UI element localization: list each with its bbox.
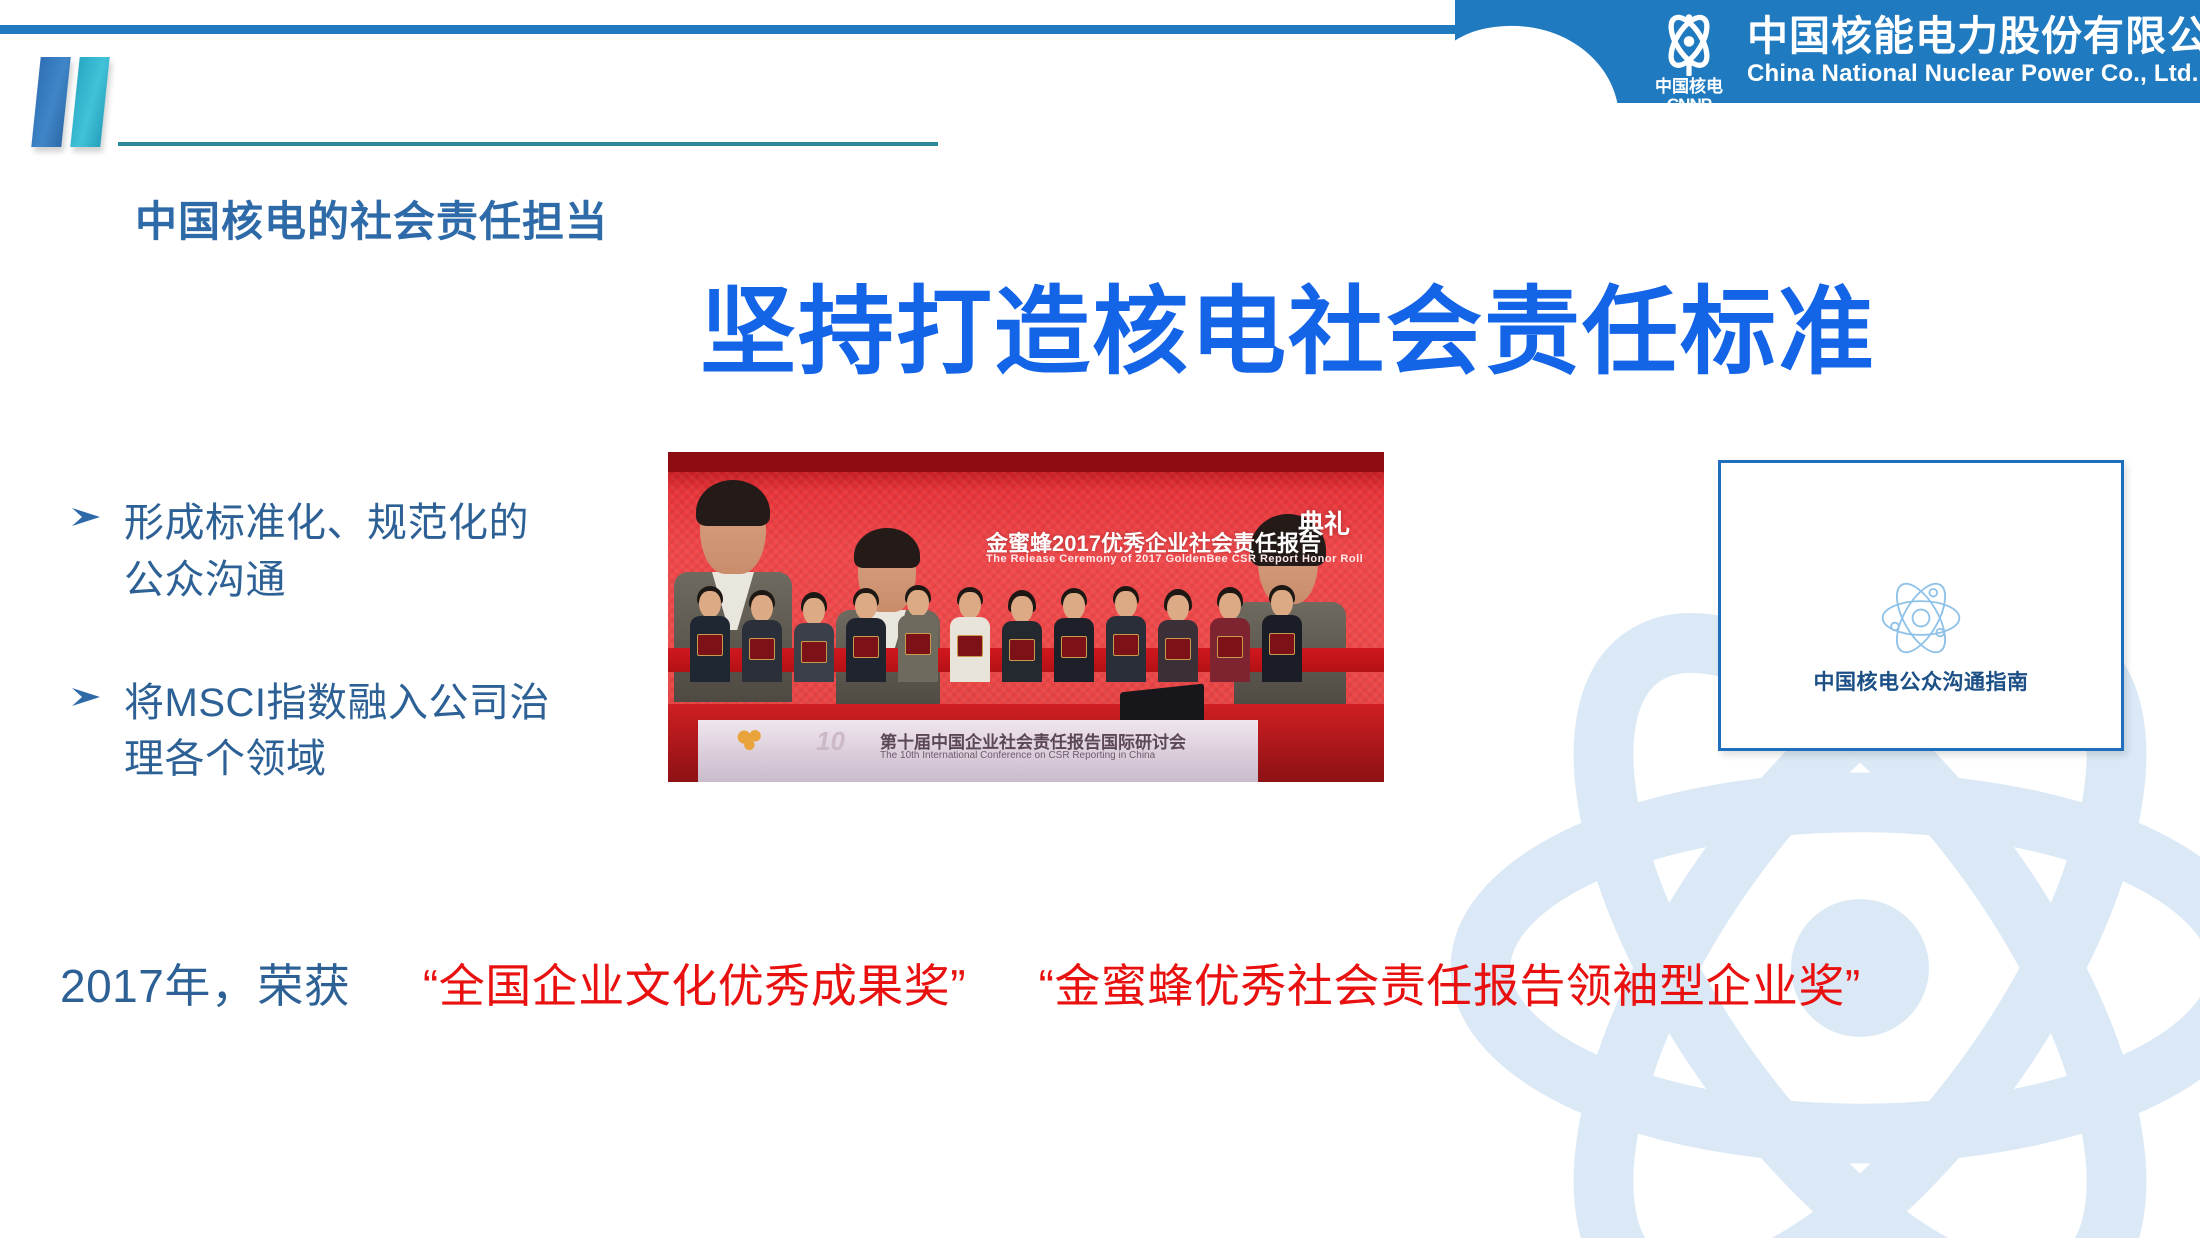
- title-underline: [118, 142, 938, 146]
- award-line: 2017年，荣获 “全国企业文化优秀成果奖” “金蜜蜂优秀社会责任报告领袖型企业…: [60, 950, 2160, 1016]
- floor-banner-number: 10: [816, 726, 845, 757]
- person: [846, 588, 886, 682]
- floor-banner-en: The 10th International Conference on CSR…: [880, 750, 1155, 761]
- list-item: 形成标准化、规范化的公众沟通: [70, 495, 550, 609]
- person: [1158, 589, 1198, 682]
- person: [950, 587, 990, 682]
- person: [898, 585, 938, 682]
- award-prefix: 2017年，荣获: [60, 960, 350, 1012]
- goldenbee-logo-icon: [734, 728, 768, 754]
- decorative-bar-cyan: [70, 57, 109, 147]
- person: [1002, 590, 1042, 682]
- person: [742, 590, 782, 682]
- brand-name-cn: 中国核能电力股份有限公司: [1747, 14, 2200, 60]
- decorative-bars: [30, 57, 150, 150]
- screen-banner-seal: 典礼: [1298, 512, 1350, 537]
- brand-names: 中国核能电力股份有限公司 China National Nuclear Powe…: [1747, 8, 2200, 89]
- slide: 中国核电 CNNP 中国核能电力股份有限公司 China National Nu…: [0, 0, 2200, 1238]
- list-item: 将MSCI指数融入公司治理各个领域: [70, 675, 550, 789]
- award-name-2: “金蜜蜂优秀社会责任报告领袖型企业奖”: [1039, 960, 1861, 1012]
- page-subtitle: 中国核电的社会责任担当: [135, 188, 608, 249]
- list-item-label: 将MSCI指数融入公司治理各个领域: [124, 675, 550, 789]
- decorative-bar-blue: [31, 57, 70, 147]
- person: [1210, 587, 1250, 682]
- logo-mark-cn: 中国核电: [1655, 78, 1723, 96]
- award-name-1: “全国企业文化优秀成果奖”: [423, 960, 966, 1012]
- bullet-list: 形成标准化、规范化的公众沟通 将MSCI指数融入公司治理各个领域: [70, 495, 550, 854]
- guide-card[interactable]: 中国核电公众沟通指南: [1718, 460, 2124, 751]
- person: [1262, 585, 1302, 682]
- ceremony-photo: 金蜜蜂2017优秀企业社会责任报告 The Release Ceremony o…: [668, 452, 1384, 782]
- guide-card-label: 中国核电公众沟通指南: [1814, 666, 2029, 696]
- brand-name-en: China National Nuclear Power Co., Ltd.: [1747, 60, 2200, 89]
- screen-top-edge: [668, 452, 1384, 472]
- atom-icon: [1875, 572, 1967, 664]
- page-title: 坚持打造核电社会责任标准: [700, 280, 1876, 386]
- logo-mark-en: CNNP: [1667, 96, 1711, 114]
- person: [1106, 586, 1146, 682]
- list-item-label: 形成标准化、规范化的公众沟通: [124, 495, 550, 609]
- floor-banner: 10 第十届中国企业社会责任报告国际研讨会 The 10th Internati…: [698, 720, 1258, 782]
- brand-lockup: 中国核电 CNNP 中国核能电力股份有限公司 China National Nu…: [1645, 8, 2200, 114]
- guide-card-content: 中国核电公众沟通指南: [1721, 572, 2121, 696]
- header-rule: [0, 25, 1462, 34]
- person: [690, 586, 730, 682]
- cnnp-logo-icon: 中国核电 CNNP: [1645, 8, 1733, 114]
- screen-banner-en: The Release Ceremony of 2017 GoldenBee C…: [986, 553, 1363, 565]
- bullet-arrow-icon: [70, 675, 106, 714]
- bullet-arrow-icon: [70, 495, 106, 534]
- person: [1054, 588, 1094, 682]
- person: [794, 592, 834, 682]
